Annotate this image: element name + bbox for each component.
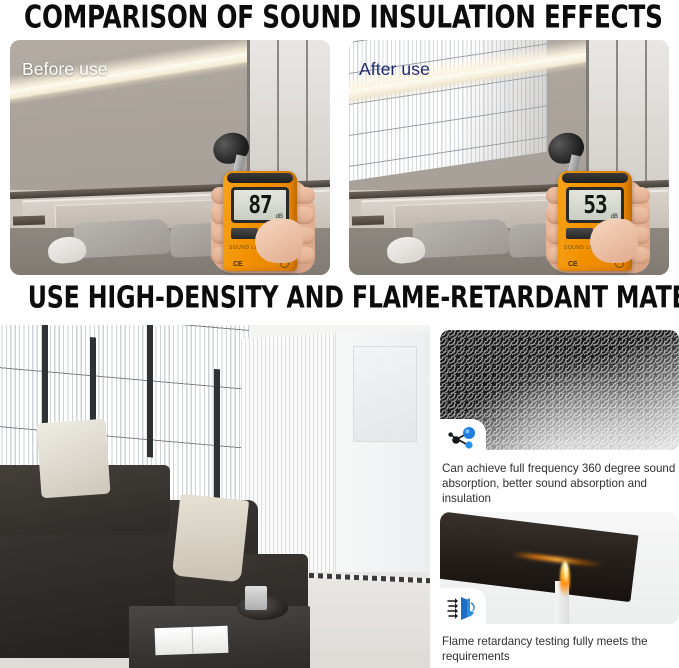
- drinking-glass: [245, 586, 267, 610]
- thumb: [590, 219, 638, 263]
- dark-accent-slat: [147, 325, 153, 457]
- living-room-photo: [0, 325, 430, 668]
- before-use-label: Before use: [22, 59, 108, 80]
- thumb: [255, 219, 303, 263]
- meter-top-cap: [562, 173, 628, 183]
- throw-pillow: [36, 419, 110, 499]
- infographic-page: COMPARISON OF SOUND INSULATION EFFECTS B…: [0, 0, 679, 668]
- ce-mark-label: CE: [233, 261, 243, 268]
- microphone-windscreen-icon: [544, 128, 588, 168]
- open-book: [154, 626, 228, 656]
- headboard-niche: [352, 216, 384, 227]
- sound-level-meter-before: 87 dB SOUND LEVEL METER CE: [205, 133, 323, 273]
- page-title-comparison: COMPARISON OF SOUND INSULATION EFFECTS: [0, 3, 679, 33]
- feature-text-absorption: Can achieve full frequency 360 degree so…: [442, 461, 678, 507]
- ce-mark-label: CE: [568, 261, 578, 268]
- throw-blanket: [172, 493, 249, 582]
- meter-top-cap: [227, 173, 293, 183]
- after-use-label: After use: [359, 59, 430, 80]
- molecule-node-icon-svg: [448, 426, 478, 452]
- window-glass: [353, 346, 418, 442]
- molecule-node-icon: [440, 419, 486, 459]
- meter-lcd-display: 53 dB: [566, 187, 624, 223]
- page-title-materials-text: USE HIGH-DENSITY AND FLAME-RETARDANT MAT…: [28, 280, 679, 315]
- flame-barrier-icon: [440, 588, 486, 628]
- sound-level-meter-after: 53 dB SOUND LEVEL METER CE: [540, 133, 658, 273]
- meter-reading-value: 87: [248, 193, 271, 218]
- flame-barrier-icon-svg: [447, 596, 479, 620]
- pillow: [73, 218, 171, 258]
- page-title-comparison-text: COMPARISON OF SOUND INSULATION EFFECTS: [24, 0, 663, 35]
- microphone-windscreen-icon: [209, 128, 253, 168]
- page-title-materials: USE HIGH-DENSITY AND FLAME-RETARDANT MAT…: [0, 283, 679, 313]
- meter-lcd-display: 87 dB: [231, 187, 289, 223]
- headboard-niche: [13, 216, 45, 227]
- meter-reading-value: 53: [583, 193, 606, 218]
- feature-text-flame: Flame retardancy testing fully meets the…: [442, 634, 678, 664]
- living-room-scene: [0, 325, 430, 668]
- pillow: [412, 218, 510, 258]
